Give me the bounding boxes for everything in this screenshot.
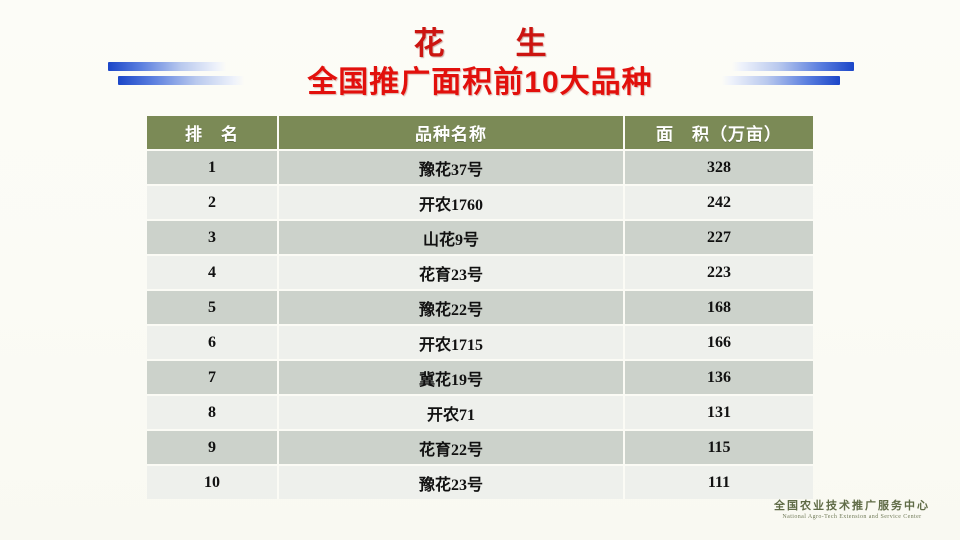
ranking-table: 排 名 品种名称 面 积（万亩） 1 豫花37号 328 2 开农1760 24… <box>147 116 813 499</box>
column-header-area: 面 积（万亩） <box>625 116 813 151</box>
cell-rank: 2 <box>147 186 279 221</box>
cell-area: 223 <box>625 256 813 291</box>
cell-variety: 山花9号 <box>279 221 625 256</box>
cell-rank: 6 <box>147 326 279 361</box>
cell-variety: 豫花22号 <box>279 291 625 326</box>
table-row: 5 豫花22号 168 <box>147 291 813 326</box>
table-row: 4 花育23号 223 <box>147 256 813 291</box>
decorative-bar-right-bottom <box>722 76 840 85</box>
cell-area: 166 <box>625 326 813 361</box>
cell-area: 115 <box>625 431 813 466</box>
table-header-row: 排 名 品种名称 面 积（万亩） <box>147 116 813 151</box>
decorative-bar-left-bottom <box>118 76 244 85</box>
page-title-primary: 花 生 <box>0 26 960 62</box>
cell-rank: 8 <box>147 396 279 431</box>
column-header-variety: 品种名称 <box>279 116 625 151</box>
decorative-bar-left-top <box>108 62 226 71</box>
table-row: 8 开农71 131 <box>147 396 813 431</box>
cell-variety: 冀花19号 <box>279 361 625 396</box>
table-row: 1 豫花37号 328 <box>147 151 813 186</box>
cell-area: 227 <box>625 221 813 256</box>
table-row: 9 花育22号 115 <box>147 431 813 466</box>
decorative-bar-right-top <box>732 62 854 71</box>
table-row: 6 开农1715 166 <box>147 326 813 361</box>
cell-area: 111 <box>625 466 813 499</box>
footer-org-name-cn: 全国农业技术推广服务中心 <box>756 500 948 513</box>
footer-org-name-en: National Agro-Tech Extension and Service… <box>756 513 948 522</box>
cell-rank: 7 <box>147 361 279 396</box>
cell-area: 131 <box>625 396 813 431</box>
column-header-rank: 排 名 <box>147 116 279 151</box>
slide-canvas: 花 生 全国推广面积前10大品种 排 名 品种名称 面 积（万亩） 1 <box>0 0 960 540</box>
cell-variety: 花育22号 <box>279 431 625 466</box>
cell-rank: 1 <box>147 151 279 186</box>
cell-area: 242 <box>625 186 813 221</box>
cell-area: 168 <box>625 291 813 326</box>
table-row: 2 开农1760 242 <box>147 186 813 221</box>
ranking-table-container: 排 名 品种名称 面 积（万亩） 1 豫花37号 328 2 开农1760 24… <box>147 116 813 499</box>
cell-variety: 开农1715 <box>279 326 625 361</box>
cell-variety: 豫花23号 <box>279 466 625 499</box>
cell-rank: 10 <box>147 466 279 499</box>
cell-variety: 开农1760 <box>279 186 625 221</box>
cell-variety: 豫花37号 <box>279 151 625 186</box>
footer-organization-logo: 全国农业技术推广服务中心 National Agro-Tech Extensio… <box>756 500 948 522</box>
cell-area: 328 <box>625 151 813 186</box>
cell-rank: 5 <box>147 291 279 326</box>
cell-variety: 花育23号 <box>279 256 625 291</box>
cell-area: 136 <box>625 361 813 396</box>
cell-rank: 9 <box>147 431 279 466</box>
table-row: 3 山花9号 227 <box>147 221 813 256</box>
cell-rank: 3 <box>147 221 279 256</box>
cell-rank: 4 <box>147 256 279 291</box>
table-row: 10 豫花23号 111 <box>147 466 813 499</box>
table-row: 7 冀花19号 136 <box>147 361 813 396</box>
cell-variety: 开农71 <box>279 396 625 431</box>
